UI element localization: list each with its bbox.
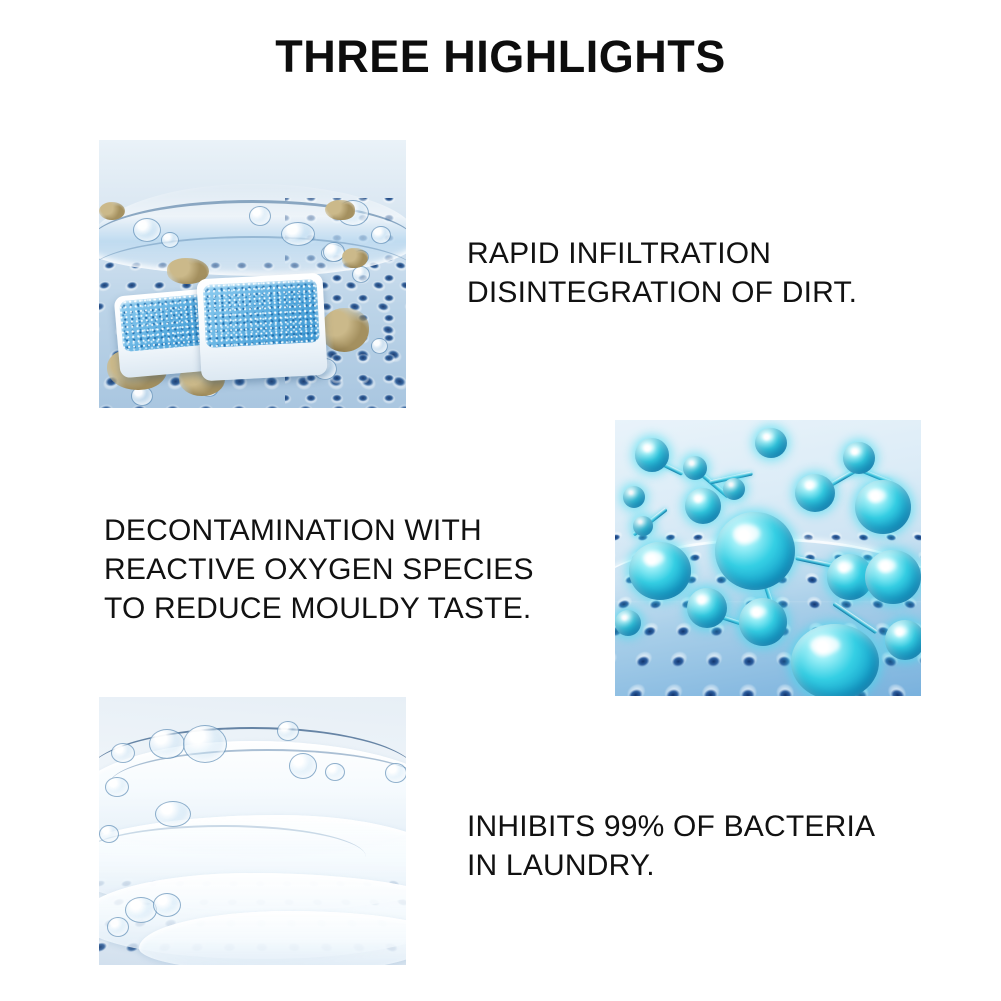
- water-bubble: [153, 893, 181, 917]
- dirt-clump: [325, 200, 355, 220]
- water-bubble: [99, 825, 119, 843]
- oxygen-molecule-large: [715, 512, 795, 590]
- oxygen-molecule: [687, 588, 727, 628]
- water-bubble: [155, 801, 191, 827]
- dirt-clump: [99, 202, 125, 220]
- oxygen-molecule: [843, 442, 875, 474]
- cleaner-tablet: [196, 273, 327, 381]
- oxygen-molecule: [615, 610, 641, 636]
- highlight-image-molecules: [615, 420, 921, 696]
- oxygen-molecule: [633, 516, 653, 536]
- oxygen-molecule: [723, 478, 745, 500]
- infographic-page: THREE HIGHLIGHTS: [0, 0, 1001, 1001]
- water-droplet: [352, 266, 370, 283]
- water-bubble: [281, 222, 315, 246]
- tablets-scene: [99, 140, 406, 408]
- caption-1-line-1: RAPID INFILTRATION: [467, 234, 857, 273]
- oxygen-molecule-large: [629, 542, 691, 600]
- tablet-effervescent-surface: [203, 279, 320, 348]
- caption-3-line-1: INHIBITS 99% OF BACTERIA: [467, 807, 875, 846]
- oxygen-molecule: [685, 488, 721, 524]
- caption-2-line-2: REACTIVE OXYGEN SPECIES: [104, 550, 534, 589]
- oxygen-molecule: [739, 598, 787, 646]
- highlight-caption-3: INHIBITS 99% OF BACTERIA IN LAUNDRY.: [467, 807, 875, 885]
- oxygen-molecule: [623, 486, 645, 508]
- oxygen-molecule: [635, 438, 669, 472]
- water-droplet: [371, 338, 388, 354]
- caption-3-line-2: IN LAUNDRY.: [467, 846, 875, 885]
- oxygen-molecule: [795, 474, 835, 512]
- water-bubble: [161, 232, 179, 248]
- oxygen-molecule: [755, 428, 787, 458]
- water-bubble: [325, 763, 345, 781]
- molecules-scene: [615, 420, 921, 696]
- water-bubble: [125, 897, 157, 923]
- water-bubble: [107, 917, 129, 937]
- water-bubble: [133, 218, 161, 242]
- water-scene: [99, 697, 406, 965]
- water-bubble: [249, 206, 271, 226]
- water-bubble: [183, 725, 227, 763]
- highlight-caption-1: RAPID INFILTRATION DISINTEGRATION OF DIR…: [467, 234, 857, 312]
- highlight-caption-2: DECONTAMINATION WITH REACTIVE OXYGEN SPE…: [104, 511, 534, 628]
- water-bubble: [277, 721, 299, 741]
- water-bubble: [105, 777, 129, 797]
- caption-1-line-2: DISINTEGRATION OF DIRT.: [467, 273, 857, 312]
- water-bubble: [289, 753, 317, 779]
- oxygen-molecule: [885, 620, 921, 660]
- water-bubble: [149, 729, 185, 759]
- water-bubble: [111, 743, 135, 763]
- oxygen-molecule: [683, 456, 707, 480]
- caption-2-line-1: DECONTAMINATION WITH: [104, 511, 534, 550]
- highlight-image-tablets: [99, 140, 406, 408]
- highlight-image-water: [99, 697, 406, 965]
- water-bubble: [385, 763, 406, 783]
- oxygen-molecule: [855, 480, 911, 534]
- caption-2-line-3: TO REDUCE MOULDY TASTE.: [104, 589, 534, 628]
- oxygen-molecule: [865, 550, 921, 604]
- water-bubble: [371, 226, 391, 244]
- oxygen-molecule-large: [791, 624, 879, 696]
- page-title: THREE HIGHLIGHTS: [0, 30, 1001, 83]
